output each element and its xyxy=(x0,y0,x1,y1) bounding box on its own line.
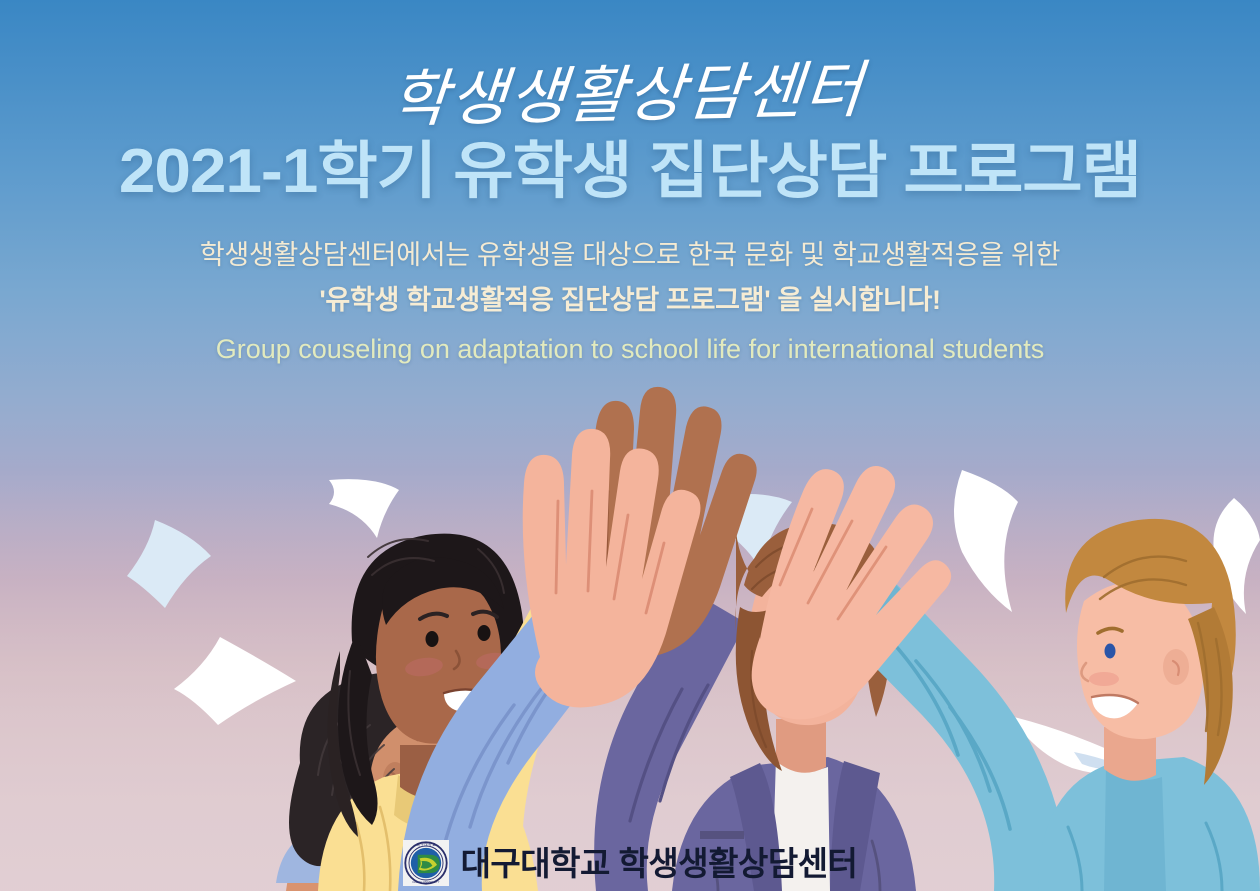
body-line-3-english: Group couseling on adaptation to school … xyxy=(0,327,1260,372)
body-text-group: 학생생활상담센터에서는 유학생을 대상으로 한국 문화 및 학교생활적응을 위한… xyxy=(0,233,1260,371)
daegu-university-seal-logo: · 대 구 대 학 교 · DAEGU UNIVERSITY xyxy=(403,840,449,886)
illustration-scene xyxy=(0,371,1260,891)
center-brand-script-title: 학생생활상담센터 xyxy=(0,0,1260,140)
poster-text-block: 학생생활상담센터 2021-1학기 유학생 집단상담 프로그램 학생생활상담센터… xyxy=(0,0,1260,372)
page-title-headline: 2021-1학기 유학생 집단상담 프로그램 xyxy=(0,141,1260,203)
footer-bar: · 대 구 대 학 교 · DAEGU UNIVERSITY 대구대학교 학생생… xyxy=(0,835,1260,891)
body-line-1: 학생생활상담센터에서는 유학생을 대상으로 한국 문화 및 학교생활적응을 위한 xyxy=(0,233,1260,278)
svg-text:· 대 구 대 학 교 ·: · 대 구 대 학 교 · xyxy=(414,842,436,847)
footer-organization-name: 대구대학교 학생생활상담센터 xyxy=(461,847,858,880)
svg-text:DAEGU UNIVERSITY: DAEGU UNIVERSITY xyxy=(412,880,439,884)
body-line-2-emphasis: '유학생 학교생활적응 집단상담 프로그램' 을 실시합니다! xyxy=(0,278,1260,323)
poster-canvas: 학생생활상담센터 2021-1학기 유학생 집단상담 프로그램 학생생활상담센터… xyxy=(0,0,1260,891)
